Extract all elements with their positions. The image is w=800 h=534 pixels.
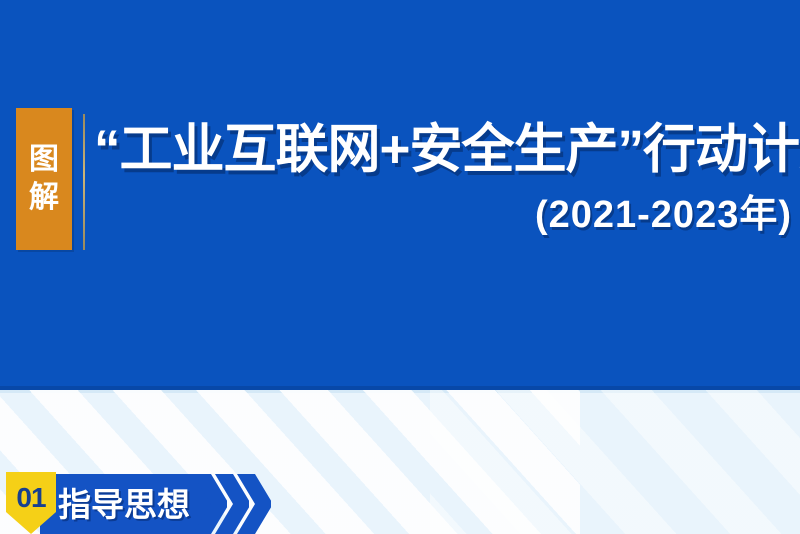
tujie-badge-char-1: 图 xyxy=(29,145,59,175)
section-label: 指导思想 xyxy=(58,481,208,527)
page-title: “工业互联网+安全生产”行动计划 xyxy=(94,113,794,185)
diagonal-stripe-pattern-right xyxy=(430,390,800,534)
infographic-poster: 图 解 “工业互联网+安全生产”行动计划 (2021-2023年) 指导思想 0… xyxy=(0,0,800,534)
section-number: 01 xyxy=(16,484,45,512)
page-subtitle: (2021-2023年) xyxy=(0,196,792,234)
